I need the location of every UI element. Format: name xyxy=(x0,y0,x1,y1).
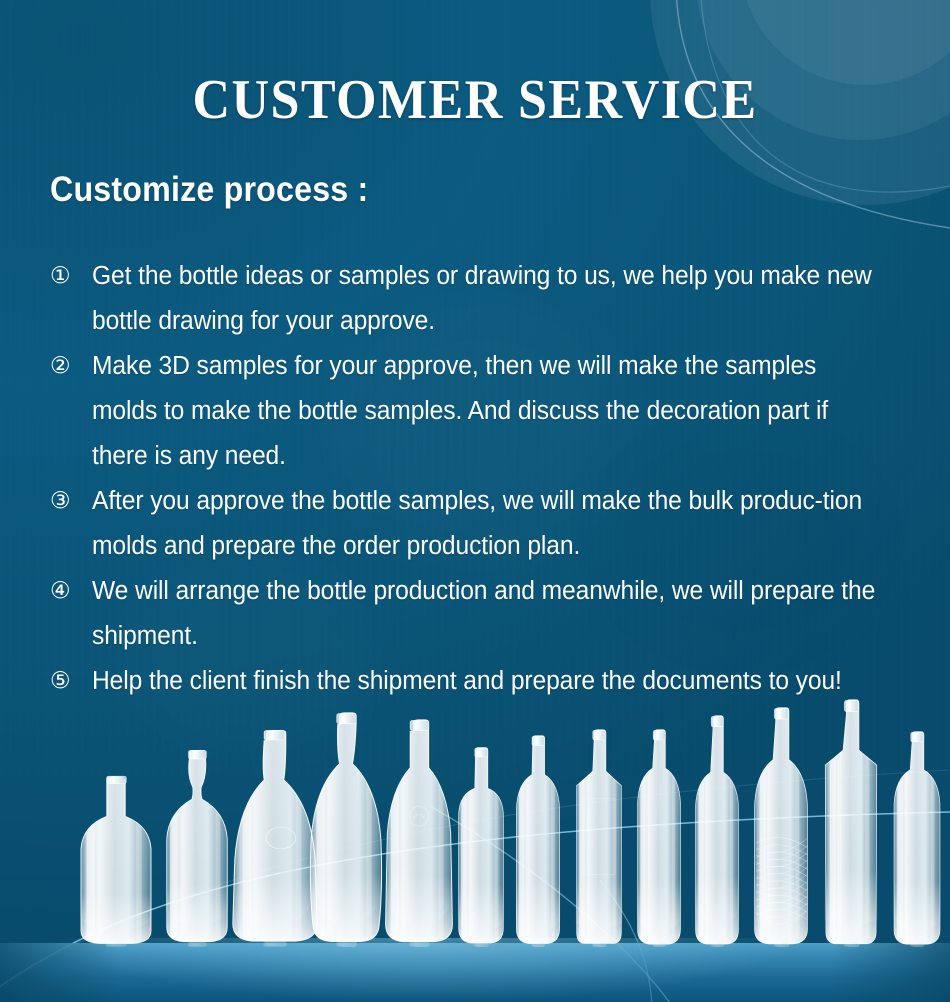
section-subtitle: Customize process : xyxy=(50,170,368,210)
step-text-4: We will arrange the bottle production an… xyxy=(92,569,881,659)
step-marker-1: ① xyxy=(50,254,92,299)
bottle-reflection xyxy=(508,858,568,947)
customize-process-list: ① Get the bottle ideas or samples or dra… xyxy=(50,254,910,704)
step-marker-3: ③ xyxy=(50,479,92,524)
bottle-reflection xyxy=(450,863,512,947)
bottle-showcase xyxy=(0,730,950,1002)
list-item: ② Make 3D samples for your approve, then… xyxy=(50,344,910,479)
list-item: ① Get the bottle ideas or samples or dra… xyxy=(50,254,910,344)
bottle-reflection xyxy=(818,843,884,947)
long-neck-slim-bottle xyxy=(688,715,746,947)
list-item: ④ We will arrange the bottle production … xyxy=(50,569,910,659)
list-item: ⑤ Help the client finish the shipment an… xyxy=(50,659,910,704)
edge-partial-bottle xyxy=(886,731,948,947)
bottle-reflection xyxy=(70,875,162,947)
bottle-reflection xyxy=(748,846,814,947)
round-shoulder-short-bottle xyxy=(70,775,162,947)
square-panel-bottle xyxy=(568,729,630,947)
page-title: CUSTOMER SERVICE xyxy=(33,72,917,128)
bottle-reflection xyxy=(630,855,688,947)
step-text-3: After you approve the bottle samples, we… xyxy=(92,479,881,569)
round-slim-bottle xyxy=(630,729,688,947)
crosshatch-texture-bottle xyxy=(748,707,814,947)
step-marker-4: ④ xyxy=(50,569,92,614)
bottle-reflection xyxy=(886,856,948,947)
step-marker-5: ⑤ xyxy=(50,659,92,704)
step-text-2: Make 3D samples for your approve, then w… xyxy=(92,344,881,479)
customer-service-banner: CUSTOMER SERVICE Customize process : ① G… xyxy=(0,0,950,1002)
step-marker-2: ② xyxy=(50,344,92,389)
step-text-5: Help the client finish the shipment and … xyxy=(92,659,881,704)
bottle-reflection xyxy=(568,855,630,947)
tall-cylinder-bottle xyxy=(508,735,568,947)
list-item: ③ After you approve the bottle samples, … xyxy=(50,479,910,569)
bottle-reflection xyxy=(688,850,746,947)
faceted-tall-bottle xyxy=(818,699,884,947)
step-text-1: Get the bottle ideas or samples or drawi… xyxy=(92,254,881,344)
flat-shoulder-slim-bottle xyxy=(450,747,512,947)
